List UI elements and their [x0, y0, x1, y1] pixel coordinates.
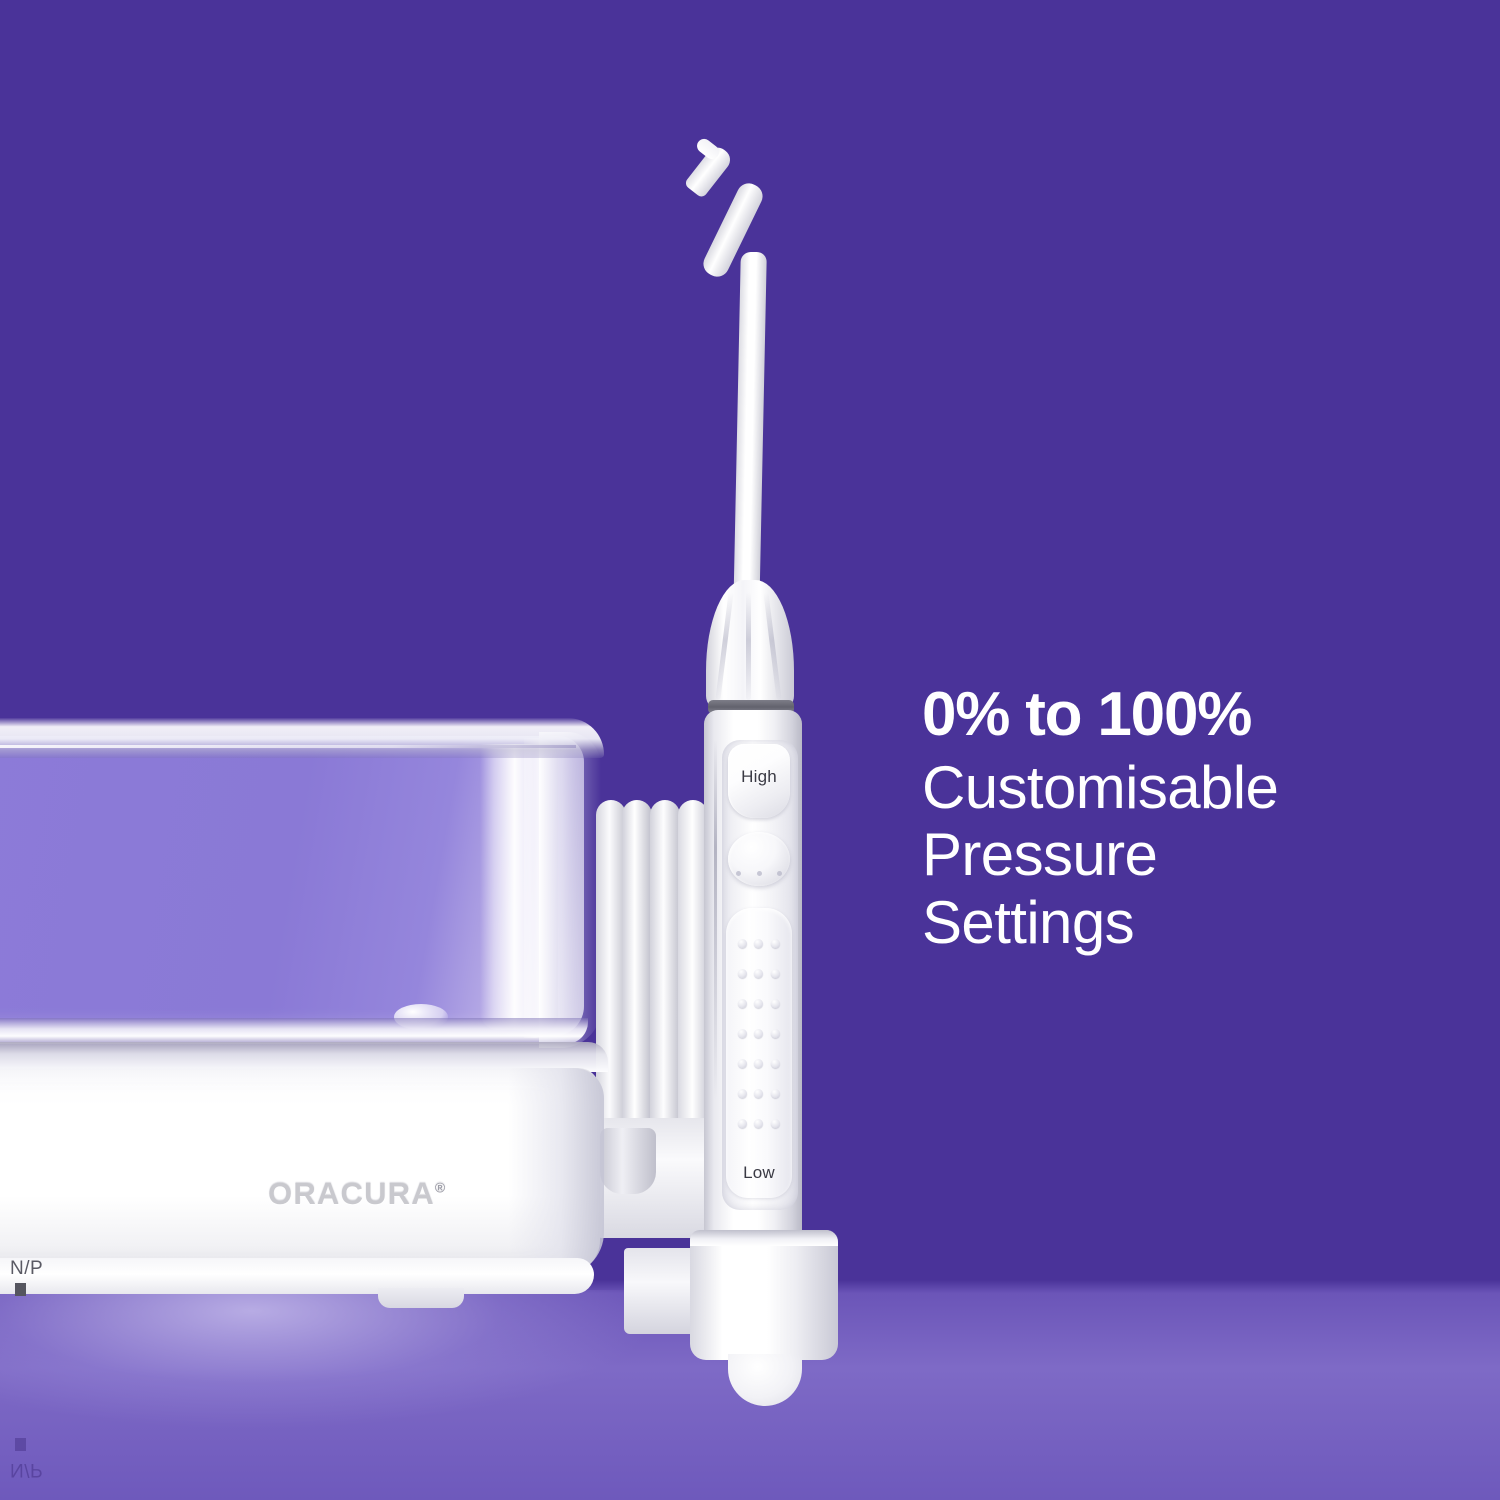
brand-logo: ORACURA®: [268, 1176, 446, 1212]
headline-block: 0% to 100% Customisable Pressure Setting…: [922, 683, 1452, 956]
grip-dot: [771, 1059, 780, 1068]
tank-right-edge: [539, 732, 601, 1048]
grip-dot: [738, 999, 747, 1008]
water-tank: [0, 718, 604, 1058]
grip-dot: [771, 969, 780, 978]
hose-coil: [650, 800, 680, 1140]
grip-dot: [771, 939, 780, 948]
grip-dot: [754, 1059, 763, 1068]
grip-texture-dots: [734, 928, 784, 1143]
grip-dot: [771, 1089, 780, 1098]
grip-dot: [771, 1119, 780, 1128]
product-marketing-image: 0% to 100% Customisable Pressure Setting…: [0, 0, 1500, 1500]
pressure-low-label: Low: [726, 1163, 792, 1183]
base-foot: [378, 1288, 464, 1308]
model-marking-indicator: [15, 1283, 26, 1296]
handpiece-cradle: [690, 1230, 838, 1360]
grip-dot: [738, 1119, 747, 1128]
hose-coil: [622, 800, 652, 1140]
pressure-slider-knob[interactable]: [728, 832, 790, 886]
knob-dot-row: [736, 871, 782, 876]
model-marking-reflection: N/P: [10, 1458, 43, 1480]
headline-line-1: 0% to 100%: [922, 683, 1452, 746]
tank-rim-line: [0, 745, 576, 748]
grip-dot: [754, 999, 763, 1008]
grip-dot: [754, 939, 763, 948]
flosser-handpiece: High Low: [690, 140, 840, 1350]
tank-top-rim: [0, 718, 604, 758]
cradle-rim: [690, 1230, 838, 1246]
grip-dot: [754, 1089, 763, 1098]
handpiece-seam-line: [714, 740, 717, 1100]
registered-trademark-icon: ®: [435, 1180, 447, 1196]
collar-rib: [746, 592, 751, 700]
tank-bottom-lip: [0, 1018, 588, 1044]
model-marking-label: N/P: [10, 1258, 43, 1280]
grip-dot: [738, 1059, 747, 1068]
knob-dot: [736, 871, 741, 876]
grip-dot: [754, 1029, 763, 1038]
grip-dot: [738, 969, 747, 978]
model-marking-indicator-reflection: [15, 1438, 26, 1451]
headline-line-4: Settings: [922, 889, 1452, 956]
headline-line-2: Customisable: [922, 754, 1452, 821]
grip-dot: [738, 1089, 747, 1098]
pressure-high-label: High: [728, 767, 790, 787]
headline-line-3: Pressure: [922, 821, 1452, 888]
base-right-curve: [508, 1068, 604, 1276]
grip-dot: [754, 1119, 763, 1128]
grip-dot: [754, 969, 763, 978]
knob-dot: [757, 871, 762, 876]
brand-logo-text: ORACURA: [268, 1176, 435, 1211]
base-bottom-edge: [0, 1258, 594, 1294]
floor-reflection-glow: [0, 1290, 720, 1500]
base-unit: [0, 1042, 620, 1292]
grip-dot: [738, 939, 747, 948]
grip-dot: [738, 1029, 747, 1038]
cradle-arm: [624, 1248, 700, 1334]
grip-dot: [771, 1029, 780, 1038]
knob-dot: [777, 871, 782, 876]
grip-dot: [771, 999, 780, 1008]
